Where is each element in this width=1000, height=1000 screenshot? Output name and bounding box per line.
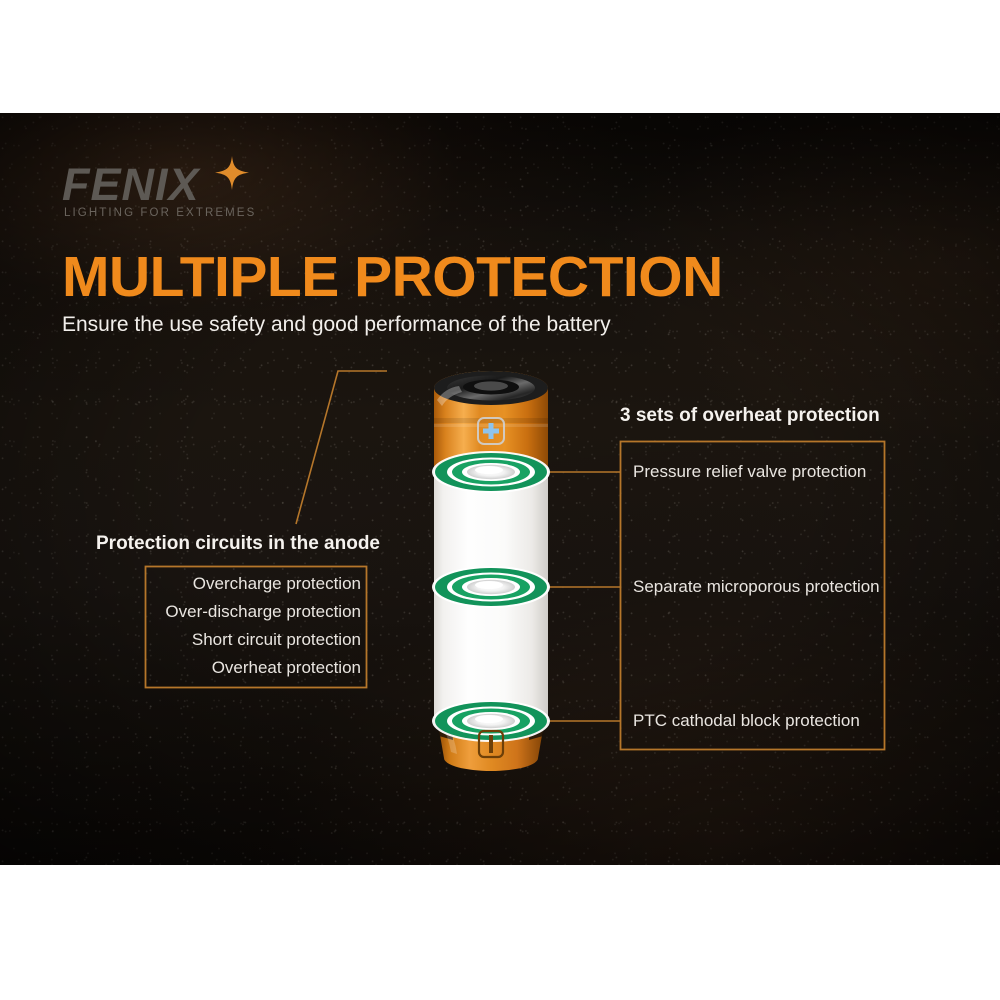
protection-marker-ring-2 xyxy=(432,566,550,608)
page-title: MULTIPLE PROTECTION xyxy=(62,248,723,308)
list-item: Pressure relief valve protection xyxy=(633,462,866,482)
list-item: Short circuit protection xyxy=(149,626,361,654)
list-item: Over-discharge protection xyxy=(149,598,361,626)
four-point-star-icon xyxy=(215,156,249,190)
list-item: Overheat protection xyxy=(149,654,361,682)
page-subtitle: Ensure the use safety and good performan… xyxy=(62,313,611,337)
left-callout-heading: Protection circuits in the anode xyxy=(96,533,380,555)
list-item: Overcharge protection xyxy=(149,570,361,598)
infographic-page: FENIX LIGHTING FOR EXTREMES MULTIPLE PRO… xyxy=(0,0,1000,1000)
fenix-logo: FENIX LIGHTING FOR EXTREMES xyxy=(62,162,282,224)
logo-wordmark: FENIX xyxy=(62,162,200,207)
logo-tagline: LIGHTING FOR EXTREMES xyxy=(64,207,256,219)
list-item: PTC cathodal block protection xyxy=(633,711,860,731)
right-callout-heading: 3 sets of overheat protection xyxy=(620,405,880,427)
battery-illustration xyxy=(425,366,557,778)
protection-marker-ring-1 xyxy=(432,451,550,493)
list-item: Separate microporous protection xyxy=(633,577,880,597)
left-callout-list: Overcharge protection Over-discharge pro… xyxy=(149,570,361,682)
